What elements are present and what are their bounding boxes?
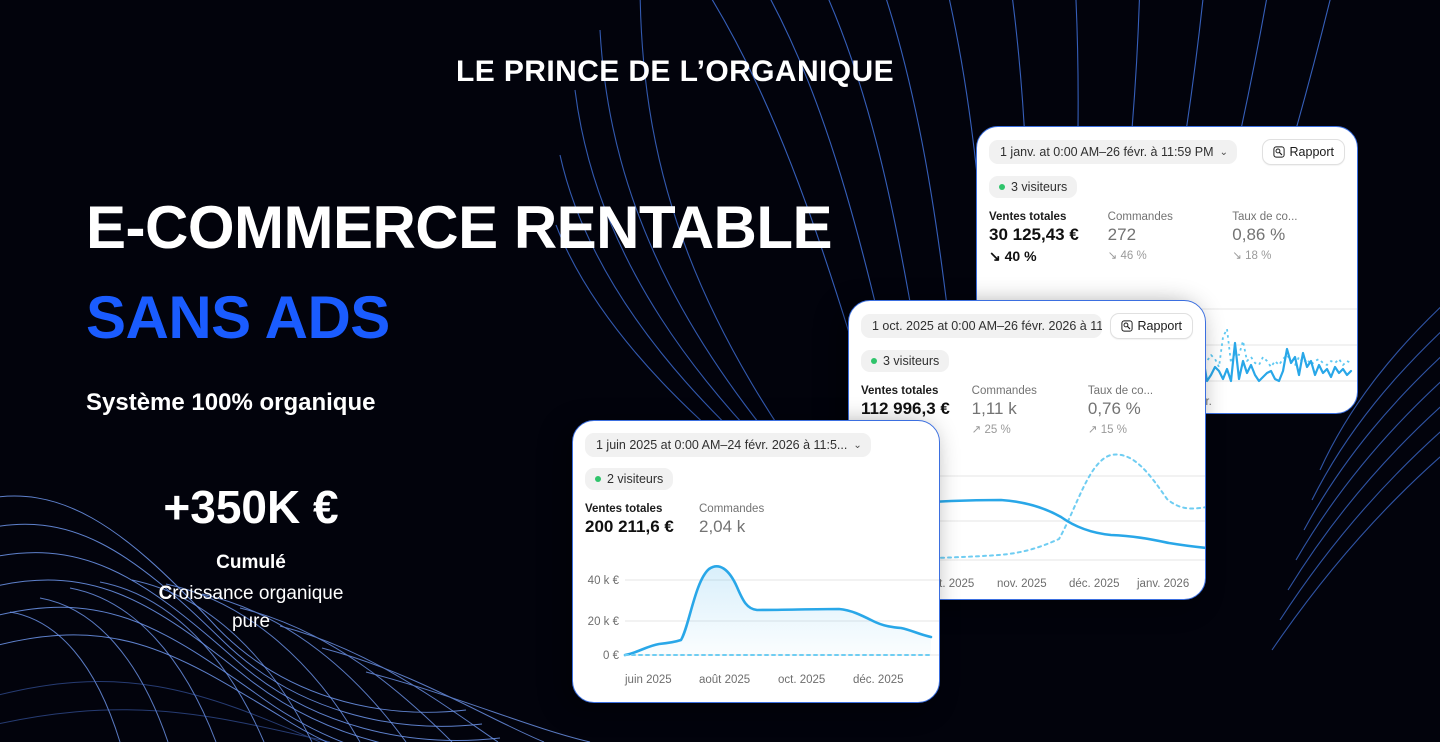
date-range-label: 1 oct. 2025 at 0:00 AM–26 févr. 2026 à 1… [872, 319, 1102, 333]
trend-arrow-icon: ↗ [1088, 424, 1098, 436]
x-axis-tick: nov. 2025 [997, 578, 1047, 590]
analytics-card-front[interactable]: 1 juin 2025 at 0:00 AM–24 févr. 2026 à 1… [572, 420, 940, 703]
metric-delta-value: 15 % [1101, 424, 1127, 436]
metric-label: Taux de co... [1088, 385, 1193, 397]
hero-caption-line2: pure [232, 611, 270, 632]
report-search-icon [1121, 320, 1133, 332]
hero-headline-1: E-COMMERCE RENTABLE [86, 198, 832, 258]
date-range-label: 1 janv. at 0:00 AM–26 févr. à 11:59 PM [1000, 145, 1214, 159]
chevron-down-icon: ⌄ [853, 440, 861, 451]
metric-label: Taux de co... [1232, 211, 1345, 223]
card-front-metrics: Ventes totales 200 211,6 € Commandes 2,0… [573, 490, 939, 537]
card-front-chart[interactable]: 40 k € 20 k € 0 € juin 2025 août 2025 oc… [573, 547, 939, 702]
card-middle-toolbar: 1 oct. 2025 at 0:00 AM–26 févr. 2026 à 1… [849, 301, 1205, 339]
card-back-toolbar: 1 janv. at 0:00 AM–26 févr. à 11:59 PM ⌄… [977, 127, 1357, 165]
hero-subline: Système 100% organique [86, 389, 375, 417]
status-dot-icon [871, 358, 877, 364]
metric-value: 272 [1108, 225, 1233, 245]
metric-total-sales[interactable]: Ventes totales 200 211,6 € [585, 503, 699, 537]
metric-value: 0,86 % [1232, 225, 1345, 245]
hero-caption-lead: C [159, 583, 173, 604]
metric-label: Ventes totales [585, 503, 699, 515]
x-axis-tick: janv. 2026 [1136, 578, 1189, 590]
metric-value: 2,04 k [699, 517, 819, 537]
metric-value: 112 996,3 € [861, 399, 972, 419]
hero-headline-2: SANS ADS [86, 288, 390, 348]
metric-label: Commandes [699, 503, 819, 515]
x-axis-tick: déc. 2025 [853, 674, 904, 686]
metric-value: 1,11 k [972, 399, 1088, 419]
card-front-toolbar: 1 juin 2025 at 0:00 AM–24 févr. 2026 à 1… [573, 421, 939, 457]
y-axis-tick: 20 k € [588, 616, 620, 628]
y-axis-tick: 40 k € [588, 575, 620, 587]
status-dot-icon [595, 476, 601, 482]
live-visitors-badge[interactable]: 2 visiteurs [585, 468, 673, 490]
report-button[interactable]: Rapport [1110, 313, 1193, 339]
metric-delta: ↘ 18 % [1232, 248, 1345, 262]
metric-label: Commandes [1108, 211, 1233, 223]
card-back-metrics: Ventes totales 30 125,43 € ↘ 40 % Comman… [977, 198, 1357, 265]
metric-delta-value: 18 % [1245, 250, 1271, 262]
x-axis-tick: oct. 2025 [778, 674, 825, 686]
metric-delta: ↘ 46 % [1108, 248, 1233, 262]
metric-delta: ↗ 25 % [972, 422, 1088, 436]
hero-kicker: LE PRINCE DE L’ORGANIQUE [456, 55, 894, 89]
metric-value: 200 211,6 € [585, 517, 699, 537]
hero-banner: LE PRINCE DE L’ORGANIQUE E-COMMERCE RENT… [0, 0, 1440, 742]
metric-orders[interactable]: Commandes 1,11 k ↗ 25 % [972, 385, 1088, 439]
metric-total-sales[interactable]: Ventes totales 30 125,43 € ↘ 40 % [989, 211, 1108, 265]
date-range-selector[interactable]: 1 janv. at 0:00 AM–26 févr. à 11:59 PM ⌄ [989, 140, 1237, 164]
hero-big-number: +350K € [86, 480, 416, 534]
status-dot-icon [999, 184, 1005, 190]
metric-conversion-rate[interactable]: Taux de co... 0,86 % ↘ 18 % [1232, 211, 1345, 265]
live-visitors-label: 3 visiteurs [1011, 180, 1067, 194]
trend-arrow-icon: ↘ [1108, 250, 1118, 262]
x-axis-tick: déc. 2025 [1069, 578, 1120, 590]
y-axis-tick: 0 € [603, 650, 620, 662]
x-axis-tick: juin 2025 [624, 674, 672, 686]
metric-delta: ↘ 40 % [989, 248, 1108, 265]
live-visitors-badge[interactable]: 3 visiteurs [989, 176, 1077, 198]
metric-spacer [819, 503, 927, 537]
metric-label: Commandes [972, 385, 1088, 397]
chevron-down-icon: ⌄ [1220, 147, 1228, 158]
metric-delta-value: 25 % [985, 424, 1011, 436]
date-range-selector[interactable]: 1 juin 2025 at 0:00 AM–24 févr. 2026 à 1… [585, 433, 871, 457]
report-button[interactable]: Rapport [1262, 139, 1345, 165]
date-range-selector[interactable]: 1 oct. 2025 at 0:00 AM–26 févr. 2026 à 1… [861, 314, 1102, 338]
metric-label: Ventes totales [861, 385, 972, 397]
metric-delta-value: 40 % [1005, 248, 1037, 264]
metric-value: 30 125,43 € [989, 225, 1108, 245]
metric-delta-value: 46 % [1121, 250, 1147, 262]
x-axis-tick: août 2025 [699, 674, 750, 686]
metric-orders[interactable]: Commandes 2,04 k [699, 503, 819, 537]
metric-orders[interactable]: Commandes 272 ↘ 46 % [1108, 211, 1233, 265]
hero-caption-rest: roissance organique [172, 583, 343, 604]
hero-caption-body: Croissance organique pure [86, 580, 416, 636]
report-search-icon [1273, 146, 1285, 158]
live-visitors-label: 2 visiteurs [607, 472, 663, 486]
series-previous-line [899, 455, 1206, 559]
live-visitors-badge[interactable]: 3 visiteurs [861, 350, 949, 372]
metric-label: Ventes totales [989, 211, 1108, 223]
hero-caption-bold: Cumulé [86, 552, 416, 574]
trend-arrow-icon: ↘ [1232, 250, 1242, 262]
report-button-label: Rapport [1290, 145, 1334, 159]
live-visitors-label: 3 visiteurs [883, 354, 939, 368]
metric-value: 0,76 % [1088, 399, 1193, 419]
report-button-label: Rapport [1138, 319, 1182, 333]
metric-conversion-rate[interactable]: Taux de co... 0,76 % ↗ 15 % [1088, 385, 1193, 439]
metric-delta: ↗ 15 % [1088, 422, 1193, 436]
date-range-label: 1 juin 2025 at 0:00 AM–24 févr. 2026 à 1… [596, 438, 847, 452]
trend-arrow-icon: ↗ [972, 424, 982, 436]
trend-arrow-icon: ↘ [989, 248, 1001, 264]
